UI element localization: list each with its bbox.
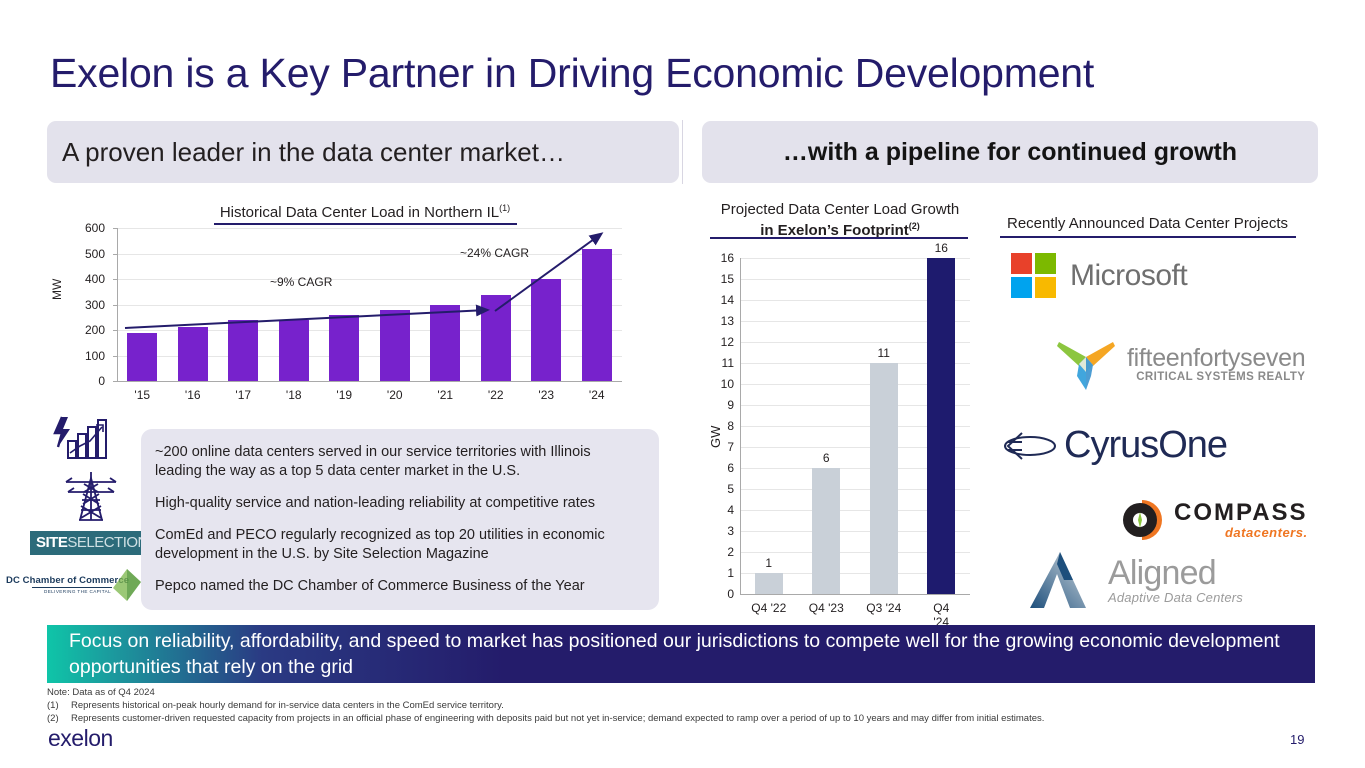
aligned-logo-sub: Adaptive Data Centers [1108,590,1243,605]
dc-chamber-diamond-icon [112,568,142,602]
dc-chamber-rule [32,587,112,588]
footnote-1: (1) Represents historical on-peak hourly… [47,699,1327,712]
bar-value-label: 6 [823,451,830,465]
page-title: Exelon is a Key Partner in Driving Econo… [50,48,1320,98]
aligned-logo-text: Aligned [1108,556,1243,590]
projected-data-center-load-chart: GW 012345678910111213141516 161116 Q4 '2… [712,258,970,595]
x-tick-label: Q4 '23 [809,601,844,615]
bullet-item: Pepco named the DC Chamber of Commerce B… [155,577,641,596]
bar-value-label: 16 [935,241,948,255]
summary-banner: Focus on reliability, affordability, and… [47,625,1315,683]
x-tick-label: Q4 '22 [751,601,786,615]
footnote-note: Note: Data as of Q4 2024 [47,686,1327,699]
dc-chamber-sublabel: DELIVERING THE CAPITAL [44,589,111,594]
cyrusone-logo-text: CyrusOne [1064,424,1227,467]
bar [812,468,840,594]
footnote-1-marker: (1) [47,699,71,712]
historical-chart-title: Historical Data Center Load in Northern … [150,203,580,221]
compass-datacenters-logo: COMPASS datacenters. [1120,498,1308,542]
historical-data-center-load-chart: MW 0100200300400500600 '15'16'17'18'19'2… [55,228,630,400]
data-center-growth-icon [50,415,145,466]
right-panel-header: …with a pipeline for continued growth [702,121,1318,183]
site-selection-light-text: SELECTION [67,534,148,551]
left-panel-header: A proven leader in the data center marke… [47,121,679,183]
microsoft-squares-icon [1010,252,1058,300]
footnote-ref-2: (2) [909,221,920,231]
compass-mark-icon [1120,498,1164,542]
page-number: 19 [1290,732,1304,747]
bar [927,258,955,594]
site-selection-bold-text: SITE [36,534,67,551]
summary-banner-text: Focus on reliability, affordability, and… [47,628,1315,680]
compass-logo-sub: datacenters. [1174,525,1308,540]
fifteenfortyseven-mark-icon [1055,336,1117,392]
projects-heading-rule [1000,236,1296,238]
fifteenfortyseven-logo: fifteenfortyseven CRITICAL SYSTEMS REALT… [1055,336,1305,392]
left-panel-header-text: A proven leader in the data center marke… [62,137,565,168]
bullet-item: ComEd and PECO regularly recognized as t… [155,526,641,564]
footnotes: Note: Data as of Q4 2024 (1) Represents … [47,686,1327,725]
dc-chamber-of-commerce-logo: DC Chamber of Commerce DELIVERING THE CA… [4,572,144,602]
historical-title-rule [214,223,517,225]
bullet-item: ~200 online data centers served in our s… [155,443,641,481]
bullet-item: High-quality service and nation-leading … [155,494,641,513]
cyrusone-logo: CyrusOne [1000,424,1227,467]
x-tick-label: Q3 '24 [866,601,901,615]
historical-cagr-arrows [55,228,630,400]
right-panel-header-text: …with a pipeline for continued growth [783,138,1237,167]
bar [870,363,898,594]
bar-value-label: 1 [765,556,772,570]
footnote-2-text: Represents customer-driven requested cap… [71,712,1044,725]
footnote-2-marker: (2) [47,712,71,725]
projected-chart-title: Projected Data Center Load Growth in Exe… [700,201,980,239]
footnote-1-text: Represents historical on-peak hourly dem… [71,699,504,712]
cagr-label-9pct: ~9% CAGR [270,275,332,289]
footnote-2: (2) Represents customer-driven requested… [47,712,1327,725]
cyrusone-mark-icon [1000,426,1058,466]
microsoft-logo-text: Microsoft [1070,259,1187,293]
bar-value-label: 11 [878,346,890,360]
fifteenfortyseven-logo-text: fifteenfortyseven [1127,345,1305,371]
projected-title-rule [710,237,968,239]
site-selection-logo: SITESELECTION [30,531,150,555]
bullet-card: ~200 online data centers served in our s… [141,429,659,610]
aligned-mark-icon [1030,550,1102,610]
projects-heading: Recently Announced Data Center Projects [1000,215,1295,232]
panel-divider [682,120,683,184]
cagr-label-24pct: ~24% CAGR [460,246,529,260]
bar [755,573,783,594]
aligned-logo: Aligned Adaptive Data Centers [1030,550,1243,610]
slide: Exelon is a Key Partner in Driving Econo… [0,0,1365,768]
footnote-ref-1: (1) [499,203,510,213]
dc-chamber-label: DC Chamber of Commerce [6,575,129,586]
projected-bars [712,258,970,595]
exelon-logo: exelon [48,725,113,752]
microsoft-logo: Microsoft [1010,252,1187,300]
compass-logo-text: COMPASS [1174,501,1308,525]
fifteenfortyseven-logo-sub: CRITICAL SYSTEMS REALTY [1127,371,1305,383]
